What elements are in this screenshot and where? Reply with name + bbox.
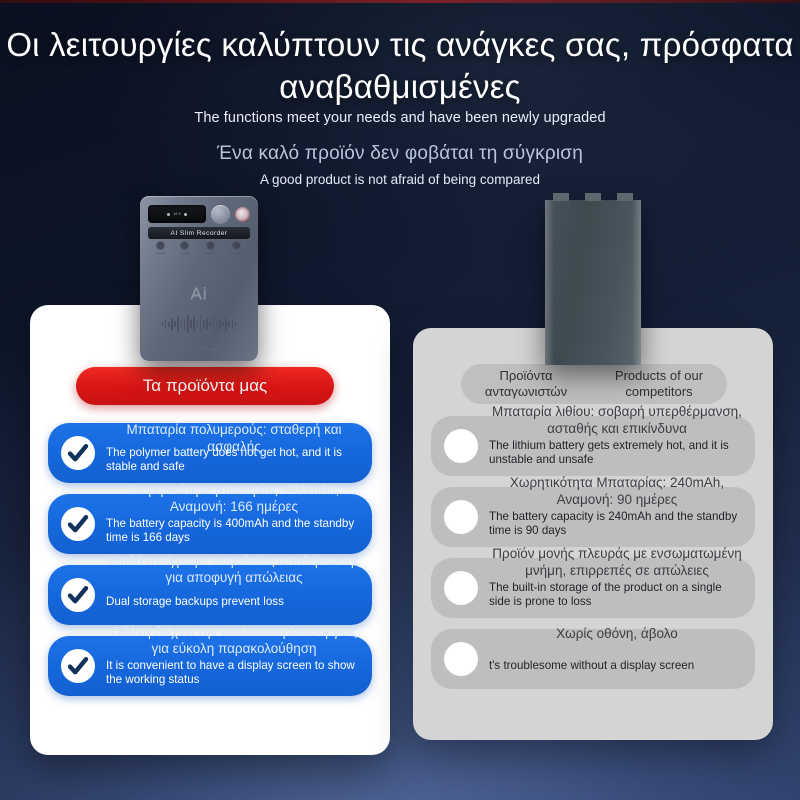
waveform-bar: [165, 320, 167, 329]
charge-icon: [156, 241, 165, 250]
competitor-banner-label-en: Products of our competitors: [596, 368, 722, 400]
feature-title: Χωρητικότητα Μπαταρίας: 240mAh, Αναμονή:…: [489, 474, 745, 508]
recorder-icon-label: Transcribe: [231, 251, 243, 255]
page-subtitle: Ένα καλό προϊόν δεν φοβάται τη σύγκριση: [0, 143, 800, 165]
waveform-bar: [232, 320, 234, 329]
feature-row: Μπαταρία λιθίου: σοβαρή υπερθέρμανση, ασ…: [431, 416, 755, 476]
recorder-body: 16:9 AI Slim Recorder A Charge Record Sy…: [140, 196, 258, 361]
recorder-function-transcribe: Transcribe: [231, 241, 243, 255]
prohibited-icon: [444, 571, 478, 605]
waveform-bar: [213, 317, 215, 332]
waveform-bar: [181, 321, 183, 328]
competitor-feature-list: Μπαταρία λιθίου: σοβαρή υπερθέρμανση, ασ…: [431, 416, 755, 700]
our-products-feature-list: Μπαταρία πολυμερούς: σταθερή και ασφαλής…: [48, 423, 372, 707]
recorder-dial-button: [211, 205, 230, 224]
recorder-screen: 16:9: [148, 205, 206, 223]
feature-description: It is convenient to have a display scree…: [106, 659, 360, 687]
feature-title: Διπλό αντίγραφο ασφαλείας αποθήκευσης γι…: [106, 552, 362, 586]
waveform-bar: [190, 320, 192, 328]
waveform-bar: [197, 321, 199, 327]
feature-description: The polymer battery does not get hot, an…: [106, 446, 360, 474]
feature-row: Μπαταρία πολυμερούς: σταθερή και ασφαλής…: [48, 423, 372, 483]
check-icon: [61, 507, 95, 541]
battery-contacts: [545, 193, 641, 201]
competitor-banner-label-el: Προϊόντα ανταγωνιστών: [466, 368, 586, 400]
feature-description: The battery capacity is 400mAh and the s…: [106, 517, 360, 545]
feature-description: The lithium battery gets extremely hot, …: [489, 439, 743, 467]
prohibited-icon: [444, 642, 478, 676]
recorder-footer-text: AI Smart Voice Recorder: [140, 347, 258, 351]
feature-description: The battery capacity is 240mAh and the s…: [489, 510, 743, 538]
recorder-icon-label: A Charge: [155, 251, 166, 255]
battery-contact-icon: [617, 193, 633, 201]
microphone-icon: [180, 241, 189, 250]
recorder-function-icons: A Charge Record Synthesize Transcribe: [148, 241, 250, 261]
feature-row: Χωρητικότητα Μπαταρίας: 240mAh, Αναμονή:…: [431, 487, 755, 547]
recorder-icon-label: Record: [181, 251, 189, 255]
competitor-products-card: Προϊόντα ανταγωνιστών Products of our co…: [413, 328, 773, 740]
recorder-function-charge: A Charge: [155, 241, 166, 255]
page-title-translation: The functions meet your needs and have b…: [0, 110, 800, 126]
recorder-function-synthesize: Synthesize: [204, 241, 217, 255]
waveform-bar: [206, 318, 208, 330]
waveform-bar: [219, 319, 221, 329]
feature-title: Χωρητικότητα μπαταρίας: 400mAh, Αναμονή:…: [106, 481, 362, 515]
comparison-infographic: Οι λειτουργίες καλύπτουν τις ανάγκες σας…: [0, 0, 800, 800]
waveform-bar: [193, 317, 195, 331]
waveform-bar: [203, 320, 205, 329]
feature-description: t's troublesome without a display screen: [489, 659, 743, 673]
waveform-bar: [177, 316, 179, 332]
battery-edge-left: [545, 200, 554, 365]
check-icon: [61, 436, 95, 470]
our-products-card: Τα προϊόντα μας Μπαταρία πολυμερούς: στα…: [30, 305, 390, 755]
document-icon: [206, 241, 215, 250]
recorder-brand-label: AI Slim Recorder: [148, 227, 250, 239]
waveform-bar: [235, 322, 237, 326]
waveform-bar: [216, 321, 218, 328]
feature-row: Χωρίς οθόνη, άβολοt's troublesome withou…: [431, 629, 755, 689]
check-icon: [61, 649, 95, 683]
waveform-bar: [171, 318, 173, 331]
our-products-banner: Τα προϊόντα μας: [76, 367, 334, 405]
waveform-bar: [225, 318, 227, 331]
recorder-logo: Ai: [140, 284, 258, 304]
transcribe-icon: [232, 241, 241, 250]
screen-dot-icon: [184, 213, 187, 216]
recorder-waveform-icon: [156, 313, 242, 335]
recorder-function-record: Record: [180, 241, 189, 255]
prohibited-icon: [444, 429, 478, 463]
page-title: Οι λειτουργίες καλύπτουν τις ανάγκες σας…: [0, 24, 800, 108]
waveform-bar: [162, 322, 164, 326]
waveform-bar: [187, 315, 189, 333]
waveform-bar: [168, 322, 170, 327]
waveform-bar: [184, 319, 186, 330]
waveform-bar: [174, 321, 176, 327]
battery-edge-right: [632, 200, 641, 365]
check-icon: [61, 578, 95, 612]
feature-row: Διπλό αντίγραφο ασφαλείας αποθήκευσης γι…: [48, 565, 372, 625]
feature-description: Dual storage backups prevent loss: [106, 595, 360, 609]
page-subtitle-translation: A good product is not afraid of being co…: [0, 172, 800, 187]
battery-contact-icon: [585, 193, 601, 201]
waveform-bar: [200, 316, 202, 333]
feature-title: Οθόνη δείχνει την κατάσταση λειτουργίας …: [106, 623, 362, 657]
feature-row: Οθόνη δείχνει την κατάσταση λειτουργίας …: [48, 636, 372, 696]
waveform-bar: [228, 321, 230, 327]
feature-row: Προϊόν μονής πλευράς με ενσωματωμένη μνή…: [431, 558, 755, 618]
feature-title: Προϊόν μονής πλευράς με ενσωματωμένη μνή…: [489, 545, 745, 579]
feature-title: Χωρίς οθόνη, άβολο: [489, 625, 745, 642]
battery-body: [545, 200, 641, 365]
competitor-products-banner: Προϊόντα ανταγωνιστών Products of our co…: [461, 364, 727, 404]
recorder-icon-label: Synthesize: [204, 251, 217, 255]
recorder-top-row: 16:9: [148, 204, 250, 224]
prohibited-icon: [444, 500, 478, 534]
waveform-bar: [209, 322, 211, 327]
feature-description: The built-in storage of the product on a…: [489, 581, 743, 609]
screen-dot-icon: [167, 213, 170, 216]
waveform-bar: [222, 322, 224, 326]
our-product-device-image: 16:9 AI Slim Recorder A Charge Record Sy…: [140, 196, 258, 361]
feature-row: Χωρητικότητα μπαταρίας: 400mAh, Αναμονή:…: [48, 494, 372, 554]
recorder-led-indicator: [235, 207, 250, 222]
feature-title: Μπαταρία λιθίου: σοβαρή υπερθέρμανση, ασ…: [489, 403, 745, 437]
recorder-screen-label: 16:9: [173, 212, 180, 216]
competitor-product-device-image: [545, 200, 641, 365]
battery-contact-icon: [553, 193, 569, 201]
